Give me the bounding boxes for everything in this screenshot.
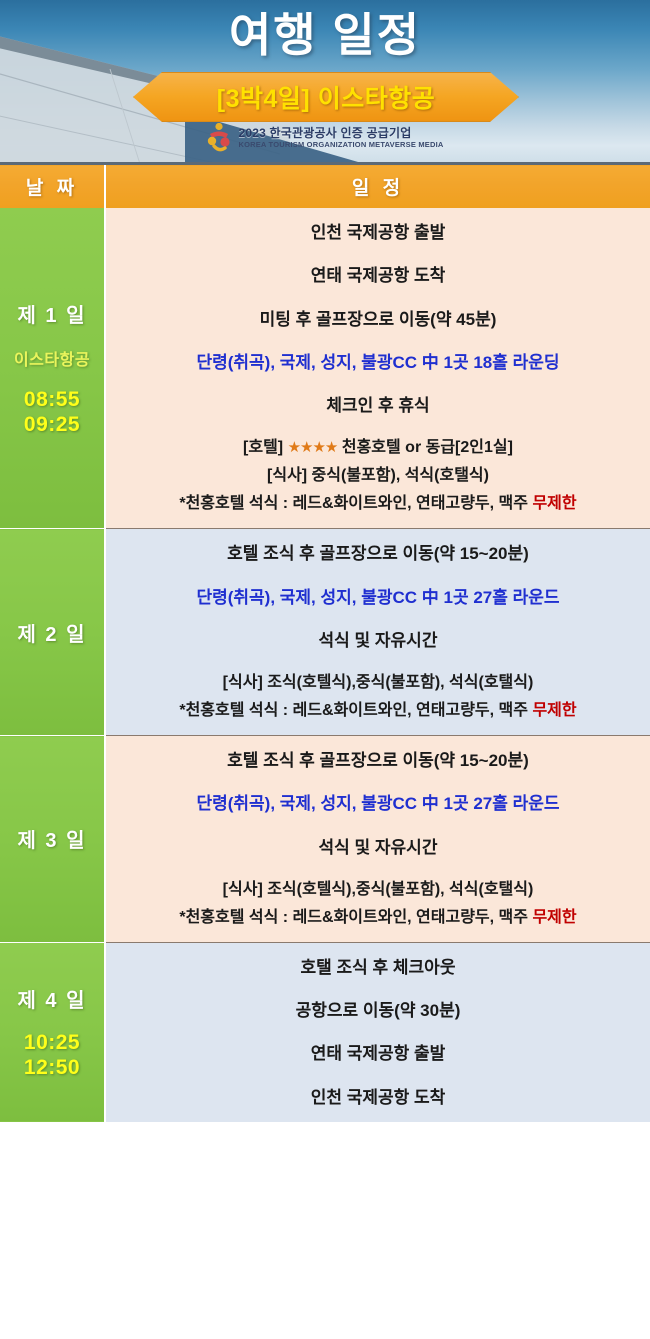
drinks-text: *천홍호텔 석식 : 레드&화이트와인, 연태고량두, 맥주 [179, 495, 528, 512]
plan-line-golf: 단령(취곡), 국제, 성지, 불광CC 中 1곳 27홀 라운드 [114, 793, 642, 814]
departure-time: 08:55 [2, 388, 102, 413]
plan-cell-day4: 호탤 조식 후 체크아웃 공항으로 이동(약 30분) 연태 국제공항 출발 인… [105, 942, 650, 1122]
plan-line: 연태 국제공항 출발 [114, 1043, 642, 1064]
flight-times: 10:25 12:50 [2, 1031, 102, 1081]
drinks-note: *천홍호텔 석식 : 레드&화이트와인, 연태고량두, 맥주 무제한 [114, 701, 642, 721]
header-plan: 일 정 [105, 164, 650, 209]
drinks-note: *천홍호텔 석식 : 레드&화이트와인, 연태고량두, 맥주 무제한 [114, 908, 642, 928]
date-cell-day4: 제 4 일 10:25 12:50 [0, 942, 105, 1122]
meals-note: [식사] 중식(불포함), 석식(호탤식) [114, 466, 642, 486]
day-label: 제 3 일 [2, 824, 102, 853]
plan-line: 인천 국제공항 출발 [114, 222, 642, 243]
itinerary-table: 날 짜 일 정 제 1 일 이스타항공 08:55 09:25 인천 국제공항 … [0, 162, 650, 1122]
certification-text: 2023 한국관광공사 인증 공급기업 KOREA TOURISM ORGANI… [238, 127, 443, 149]
drinks-text: *천홍호텔 석식 : 레드&화이트와인, 연태고량두, 맥주 [179, 909, 528, 926]
drinks-note: *천홍호텔 석식 : 레드&화이트와인, 연태고량두, 맥주 무제한 [114, 494, 642, 514]
plan-cell-day2: 호텔 조식 후 골프장으로 이동(약 15~20분) 단령(취곡), 국제, 성… [105, 529, 650, 736]
header-date: 날 짜 [0, 164, 105, 209]
hotel-note: [호텔] ★★★★ 천홍호텔 or 동급[2인1실] [114, 438, 642, 458]
drinks-highlight: 무제한 [532, 909, 576, 926]
date-cell-day3: 제 3 일 [0, 736, 105, 943]
plan-line: 공항으로 이동(약 30분) [114, 1000, 642, 1021]
plan-line: 인천 국제공항 도착 [114, 1087, 642, 1108]
plan-line-golf: 단령(취곡), 국제, 성지, 불광CC 中 1곳 27홀 라운드 [114, 587, 642, 608]
hero-banner: 여행 일정 [3박4일] 이스타항공 2023 한국관광공사 인증 공급기업 K… [0, 0, 650, 162]
hotel-prefix: [호텔] [243, 439, 283, 456]
plan-line: 호탤 조식 후 체크아웃 [114, 957, 642, 978]
table-row: 제 4 일 10:25 12:50 호탤 조식 후 체크아웃 공항으로 이동(약… [0, 942, 650, 1122]
tour-package-ribbon: [3박4일] 이스타항공 [133, 72, 519, 122]
travel-itinerary-page: 여행 일정 [3박4일] 이스타항공 2023 한국관광공사 인증 공급기업 K… [0, 0, 650, 1339]
plan-cell-day3: 호텔 조식 후 골프장으로 이동(약 15~20분) 단령(취곡), 국제, 성… [105, 736, 650, 943]
plan-line: 호텔 조식 후 골프장으로 이동(약 15~20분) [114, 750, 642, 771]
certification-korean-label: 2023 한국관광공사 인증 공급기업 [238, 127, 443, 139]
certification-english-label: KOREA TOURISM ORGANIZATION METAVERSE MED… [238, 141, 443, 149]
day-label: 제 1 일 [2, 299, 102, 328]
tour-package-label: [3박4일] 이스타항공 [217, 79, 435, 115]
date-cell-day1: 제 1 일 이스타항공 08:55 09:25 [0, 208, 105, 529]
airline-name: 이스타항공 [2, 346, 102, 370]
date-cell-day2: 제 2 일 [0, 529, 105, 736]
drinks-highlight: 무제한 [532, 702, 576, 719]
day-label: 제 2 일 [2, 618, 102, 647]
table-header-row: 날 짜 일 정 [0, 164, 650, 209]
plan-line: 석식 및 자유시간 [114, 630, 642, 651]
arrival-time: 12:50 [2, 1056, 102, 1081]
plan-line: 체크인 후 휴식 [114, 395, 642, 416]
plan-line: 호텔 조식 후 골프장으로 이동(약 15~20분) [114, 543, 642, 564]
day-label: 제 4 일 [2, 984, 102, 1013]
table-row: 제 3 일 호텔 조식 후 골프장으로 이동(약 15~20분) 단령(취곡),… [0, 736, 650, 943]
plan-cell-day1: 인천 국제공항 출발 연태 국제공항 도착 미팅 후 골프장으로 이동(약 45… [105, 208, 650, 529]
plan-line: 미팅 후 골프장으로 이동(약 45분) [114, 309, 642, 330]
plan-line: 연태 국제공항 도착 [114, 265, 642, 286]
flight-times: 08:55 09:25 [2, 388, 102, 438]
drinks-highlight: 무제한 [532, 495, 576, 512]
plan-line: 석식 및 자유시간 [114, 837, 642, 858]
table-row: 제 1 일 이스타항공 08:55 09:25 인천 국제공항 출발 연태 국제… [0, 208, 650, 529]
bottom-spacer [0, 1122, 650, 1128]
departure-time: 10:25 [2, 1031, 102, 1056]
hotel-name: 천홍호텔 or 동급[2인1실] [342, 439, 513, 456]
arrival-time: 09:25 [2, 413, 102, 438]
certification-badge: 2023 한국관광공사 인증 공급기업 KOREA TOURISM ORGANI… [0, 122, 650, 154]
plan-line-golf: 단령(취곡), 국제, 성지, 불광CC 中 1곳 18홀 라운딩 [114, 352, 642, 373]
page-title: 여행 일정 [0, 10, 650, 61]
tourism-org-logo-icon [206, 122, 232, 154]
table-row: 제 2 일 호텔 조식 후 골프장으로 이동(약 15~20분) 단령(취곡),… [0, 529, 650, 736]
hotel-star-rating-icon: ★★★★ [288, 439, 338, 456]
meals-note: [식사] 조식(호텔식),중식(불포함), 석식(호탤식) [114, 880, 642, 900]
drinks-text: *천홍호텔 석식 : 레드&화이트와인, 연태고량두, 맥주 [179, 702, 528, 719]
meals-note: [식사] 조식(호텔식),중식(불포함), 석식(호탤식) [114, 673, 642, 693]
